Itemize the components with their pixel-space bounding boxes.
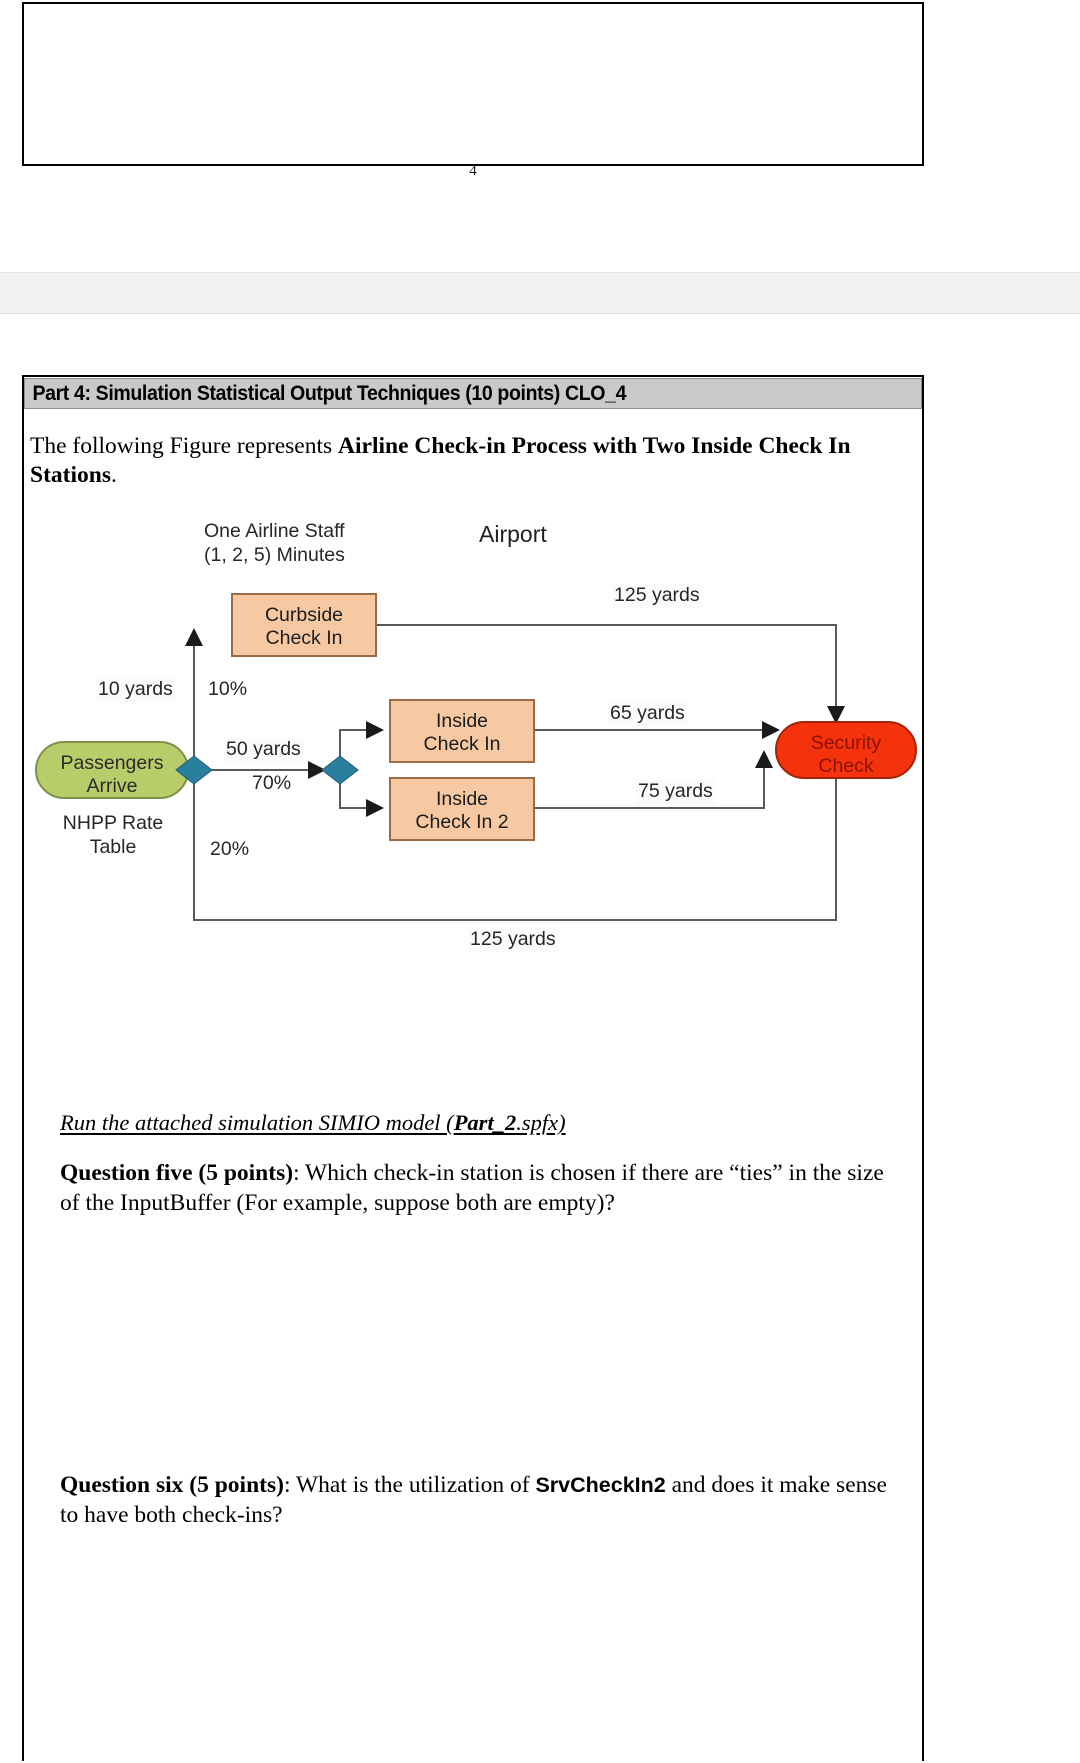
staff-note-line-1: One Airline Staff (204, 520, 345, 544)
node-passengers-arrive-line-2: Arrive (36, 775, 188, 798)
source-note-line-1: NHPP Rate (48, 812, 178, 836)
staff-note-line-2: (1, 2, 5) Minutes (204, 544, 345, 568)
connector-diamond-split (322, 756, 358, 784)
question-six-entity: SrvCheckIn2 (535, 1473, 665, 1497)
question-six-label: Question six (5 points) (60, 1472, 284, 1498)
page-separator (0, 272, 1080, 314)
section-header-title: Part 4: Simulation Statistical Output Te… (25, 382, 626, 406)
run-simulation-instruction: Run the attached simulation SIMIO model … (60, 1110, 566, 1136)
node-inside-check-in-line-2: Check In (390, 733, 534, 756)
run-line-prefix: Run the attached simulation SIMIO model … (60, 1110, 454, 1135)
source-note-line-2: Table (48, 836, 178, 860)
previous-page-sheet (22, 2, 924, 166)
node-passengers-arrive-label: Passengers Arrive (36, 752, 188, 799)
intro-trail: . (111, 462, 117, 488)
source-note: NHPP Rate Table (48, 812, 178, 860)
run-line-model: Part_2 (454, 1110, 517, 1135)
edge-label-inside2-to-security: 75 yards (636, 780, 715, 804)
node-inside-check-in-2-line-1: Inside (390, 788, 534, 811)
page-number: 4 (22, 163, 924, 180)
edge-label-inside1-to-security: 65 yards (608, 702, 687, 726)
edge-label-curbside-percent: 10% (208, 678, 247, 702)
node-curbside-check-in-line-1: Curbside (232, 604, 376, 627)
edge-label-curbside-to-security: 125 yards (612, 584, 702, 608)
intro-lead: The following Figure represents (30, 433, 338, 459)
intro-paragraph: The following Figure represents Airline … (30, 432, 910, 491)
node-inside-check-in-2-line-2: Check In 2 (390, 811, 534, 834)
question-six: Question six (5 points): What is the uti… (60, 1470, 900, 1530)
edge-label-arrive-distance: 10 yards (96, 678, 175, 702)
edge-label-bypass-to-security: 125 yards (468, 928, 558, 952)
node-security-check-label: Security Check (776, 732, 916, 779)
node-inside-check-in-2-label: Inside Check In 2 (390, 788, 534, 835)
airline-checkin-process-diagram: Airport One Airline Staff (1, 2, 5) Minu… (24, 490, 922, 970)
node-inside-check-in-line-1: Inside (390, 710, 534, 733)
run-line-suffix: .spfx) (516, 1110, 565, 1135)
node-curbside-check-in-line-2: Check In (232, 627, 376, 650)
node-security-check-line-1: Security (776, 732, 916, 755)
edge-label-inside-percent: 70% (252, 772, 291, 796)
node-security-check-line-2: Check (776, 755, 916, 778)
section-header-bar: Part 4: Simulation Statistical Output Te… (24, 378, 922, 409)
diagram-title: Airport (479, 520, 547, 548)
question-six-text-before: : What is the utilization of (284, 1472, 536, 1498)
question-five-label: Question five (5 points) (60, 1160, 293, 1186)
staff-note: One Airline Staff (1, 2, 5) Minutes (204, 520, 345, 568)
question-five: Question five (5 points): Which check-in… (60, 1158, 900, 1218)
node-passengers-arrive-line-1: Passengers (36, 752, 188, 775)
edge-label-bypass-percent: 20% (210, 838, 249, 862)
node-curbside-check-in-label: Curbside Check In (232, 604, 376, 651)
node-inside-check-in-label: Inside Check In (390, 710, 534, 757)
edge-label-inside-distance: 50 yards (224, 738, 303, 762)
